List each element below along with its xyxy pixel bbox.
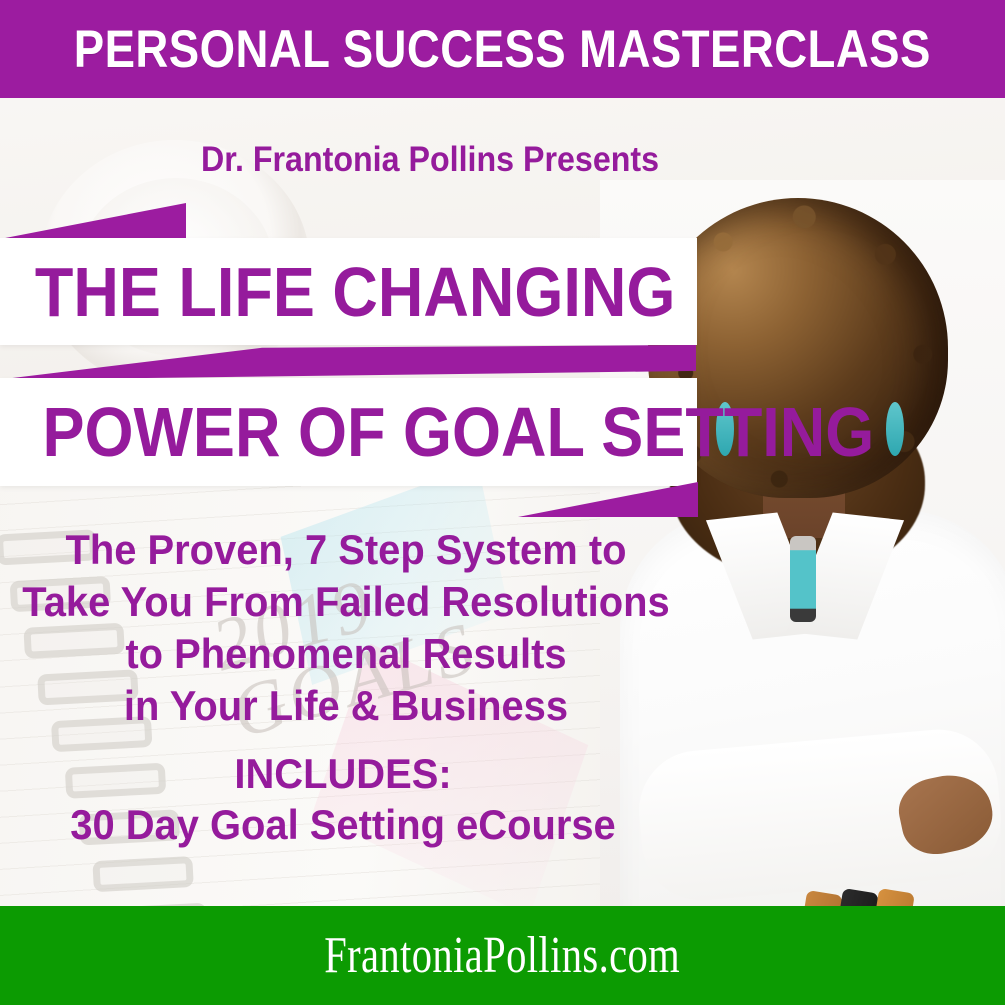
subtitle-line: in Your Life & Business [17,680,674,732]
subtitle-line: Take You From Failed Resolutions [17,576,674,628]
footer-banner[interactable]: FrantoniaPollins.com [0,906,1005,1005]
header-banner: PERSONAL SUCCESS MASTERCLASS [0,0,1005,98]
presenter-line: Dr. Frantonia Pollins Presents [34,140,825,180]
subtitle-line: The Proven, 7 Step System to [17,524,674,576]
title-line-2: POWER OF GOAL SETTING [35,392,670,472]
title-band-secondary: POWER OF GOAL SETTING [0,378,697,486]
subtitle-line: to Phenomenal Results [17,628,674,680]
subtitle-block: The Proven, 7 Step System to Take You Fr… [17,524,674,732]
title-line-1: THE LIFE CHANGING [35,252,662,332]
title-band-primary: THE LIFE CHANGING [0,238,697,345]
includes-block: INCLUDES: 30 Day Goal Setting eCourse [17,748,669,851]
includes-label: INCLUDES: [17,748,669,799]
promo-poster: 2019 GOALS [0,0,1005,1005]
footer-website-text[interactable]: FrantoniaPollins.com [325,926,681,985]
header-banner-text: PERSONAL SUCCESS MASTERCLASS [74,19,931,80]
photo-earring-right [886,402,904,456]
includes-item: 30 Day Goal Setting eCourse [17,799,669,851]
photo-necklace [790,536,816,622]
